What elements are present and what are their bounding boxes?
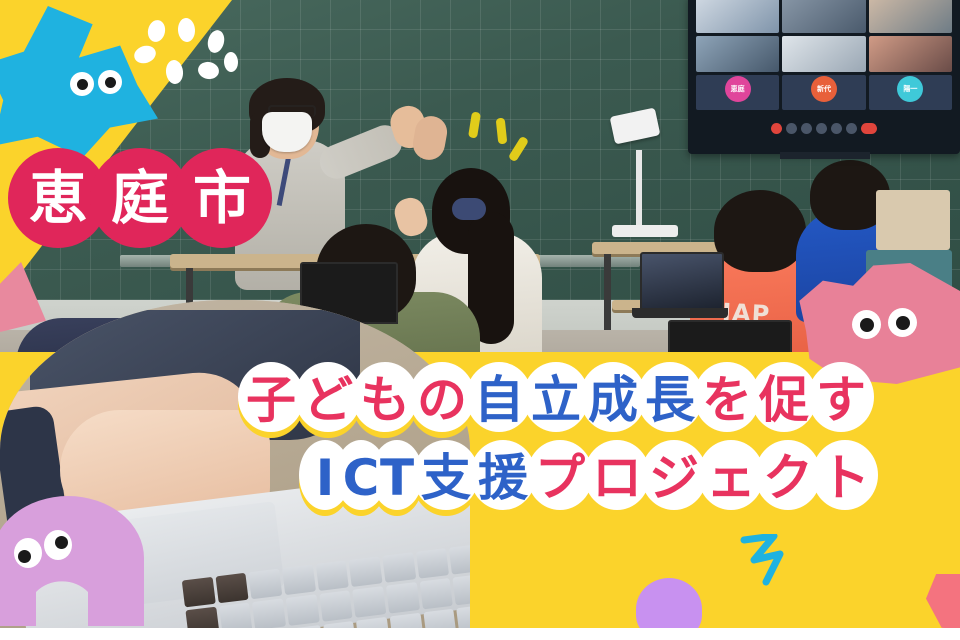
video-conference-display[interactable]: 恵庭 新代 陽一 [688,0,960,154]
dot-icon [146,18,167,43]
display-stand [780,152,870,159]
title-char: も [360,375,410,425]
title-char-bubble: を [694,362,760,438]
title-char: C [343,453,380,503]
eye-icon [70,72,94,96]
dot-icon [177,17,196,42]
conference-toolbar [688,118,960,138]
dot-icon [132,43,158,66]
document-camera-pole [636,150,642,230]
mic-button[interactable] [771,123,782,134]
title-char-bubble: 促 [751,362,817,438]
title-char-bubble: ロ [584,440,650,516]
participant-tile[interactable] [869,0,952,33]
participant-tile[interactable] [782,36,865,71]
title-char: ク [763,453,813,503]
badge-char: 恵 [29,169,87,227]
white-dots-cluster [130,18,240,96]
title-char-bubble: ど [295,362,361,438]
title-char: 立 [531,375,581,425]
title-line-1: 子どもの自立成長を促す [238,362,865,438]
title-char: ェ [706,453,756,503]
storage-box [876,190,950,250]
badge-char-bubble: 市 [172,148,272,248]
bottom-white-strip [0,628,960,640]
title-char: 自 [474,375,524,425]
title-char: の [417,375,467,425]
camera-button[interactable] [786,123,797,134]
avatar: 陽一 [897,76,923,102]
title-char-bubble: 立 [523,362,589,438]
title-char: ど [303,375,353,425]
title-line-2: ICT支援プロジェクト [305,440,869,516]
title-char: プ [535,453,585,503]
participant-tile[interactable] [869,36,952,71]
banner-stage: JAP [0,0,960,640]
student-head [714,190,806,272]
avatar: 新代 [811,76,837,102]
title-char-bubble: 長 [637,362,703,438]
title-char-bubble: 自 [466,362,532,438]
title-char: I [316,453,335,503]
title-char: 成 [588,375,638,425]
title-char-bubble: T [377,440,417,516]
more-button[interactable] [846,123,857,134]
title-char-bubble: ェ [698,440,764,516]
dot-icon [165,59,184,85]
title-char-bubble: す [808,362,874,438]
document-camera-base [612,225,678,237]
participant-grid: 恵庭 新代 陽一 [696,0,952,110]
face-mask-icon [262,112,312,152]
desk-leg [604,254,611,330]
hair-tie [452,198,486,220]
title-char-bubble: ジ [641,440,707,516]
share-button[interactable] [801,123,812,134]
title-char-bubble: 成 [580,362,646,438]
title-char: を [702,375,752,425]
badge-char: 市 [193,169,251,227]
title-char: 援 [478,453,528,503]
eye-icon [98,70,122,94]
chat-button[interactable] [831,123,842,134]
eye-icon [14,538,42,568]
title-char: ト [820,453,870,503]
eye-icon [888,308,917,337]
title-char-bubble: 支 [413,440,479,516]
title-char: 長 [645,375,695,425]
title-char: ロ [592,453,642,503]
eye-icon [852,310,881,339]
participant-tile[interactable]: 恵庭 [696,75,779,110]
title-char: 促 [759,375,809,425]
eye-icon [44,530,72,560]
title-char-bubble: 子 [238,362,304,438]
participant-tile[interactable] [696,36,779,71]
title-char: ジ [649,453,699,503]
title-char-bubble: も [352,362,418,438]
title-char-bubble: の [409,362,475,438]
title-char-bubble: 援 [470,440,536,516]
blue-zigzag [740,534,816,588]
title-char-bubble: C [341,440,381,516]
participant-tile[interactable] [782,0,865,33]
badge-char: 庭 [111,169,169,227]
end-call-button[interactable] [861,123,877,134]
purple-arch-character [0,496,144,626]
title-char-bubble: ト [812,440,878,516]
dot-icon [224,52,239,72]
participant-tile[interactable]: 陽一 [869,75,952,110]
avatar: 恵庭 [725,76,751,102]
dot-icon [197,60,221,80]
title-char: す [816,375,866,425]
title-char: 支 [421,453,471,503]
title-char: T [380,453,414,503]
title-char-bubble: プ [527,440,593,516]
participant-tile[interactable]: 新代 [782,75,865,110]
title-char: 子 [246,375,296,425]
participants-button[interactable] [816,123,827,134]
participant-tile[interactable] [696,0,779,33]
eniwa-city-badge: 恵 庭 市 [8,148,254,248]
dot-icon [205,28,226,54]
title-char-bubble: ク [755,440,821,516]
